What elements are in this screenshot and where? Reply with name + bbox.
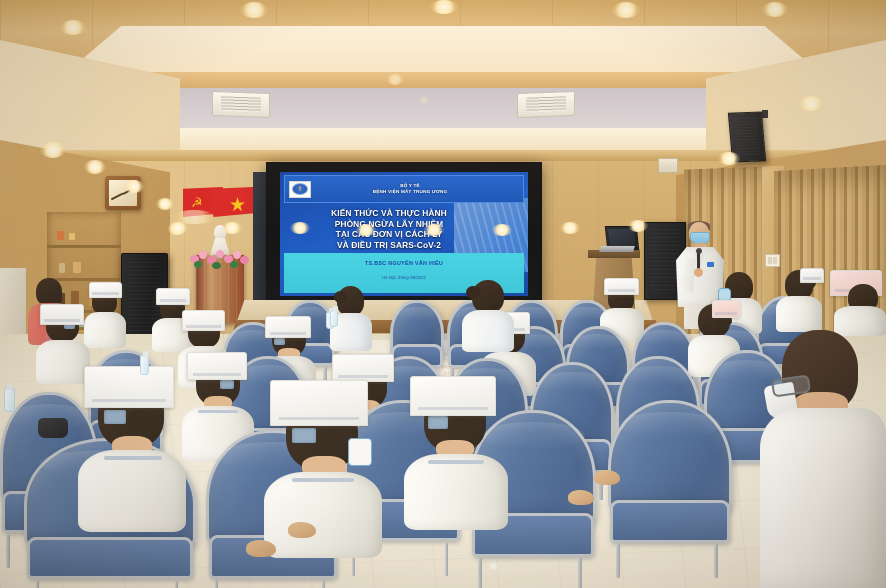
left-doorway	[0, 268, 26, 344]
attendee	[404, 376, 508, 526]
nurse-cap	[800, 268, 824, 283]
trophy-item	[69, 233, 75, 240]
cap-ribbon	[428, 416, 448, 429]
sandal	[568, 490, 594, 505]
nurse-cap	[84, 366, 174, 408]
ceiling-downlight	[430, 0, 458, 14]
presenter-id-badge	[707, 262, 714, 267]
nurse-cap	[156, 288, 190, 305]
ceiling-downlight	[492, 224, 512, 236]
hand-sanitizer-bottle[interactable]	[4, 388, 15, 412]
chair[interactable]	[608, 400, 726, 552]
nurse-cap	[40, 304, 84, 325]
trophy-item	[57, 231, 64, 240]
nurse-cap	[270, 380, 368, 426]
ceiling-downlight	[628, 220, 648, 232]
slide-title-line1: KIẾN THỨC VÀ THỰC HÀNH	[294, 208, 484, 219]
attendee	[78, 366, 186, 526]
cap-ribbon	[274, 338, 285, 345]
slide-header: ⚕ BỘ Y TẾ BỆNH VIỆN MẮT TRUNG ƯƠNG	[284, 175, 524, 203]
hand-sanitizer-bottle[interactable]	[330, 310, 338, 327]
smoke-detector-icon	[420, 97, 428, 103]
attendee	[84, 282, 126, 344]
speaker-mount-bracket	[762, 110, 768, 118]
attendee	[830, 270, 886, 334]
ceiling-downlight	[356, 224, 376, 236]
ceiling-downlight	[290, 222, 310, 234]
conference-room-photo: ☭ ★ ⚕ BỘ Y TẾ BỆNH VIỆN MẮ	[0, 0, 886, 588]
ceiling-downlight	[612, 2, 640, 18]
foreground-attendee	[760, 330, 886, 588]
ceiling-downlight	[156, 198, 174, 210]
sandal	[246, 540, 276, 557]
slide-title-line2: PHÒNG NGỪA LÂY NHIỄM	[294, 219, 484, 230]
slide-author: TS.BSC NGUYỄN VĂN HIẾU	[284, 261, 524, 267]
nurse-cap	[265, 316, 311, 338]
ceiling-downlight	[718, 152, 740, 165]
ceiling-downlight	[60, 20, 86, 35]
hand-sanitizer-bottle[interactable]	[140, 355, 149, 375]
sandal	[594, 470, 620, 485]
nurse-cap	[182, 310, 225, 331]
slide-org-line2: BỆNH VIỆN MẮT TRUNG ƯƠNG	[311, 189, 509, 195]
ceiling-downlight	[798, 96, 824, 111]
ministry-of-health-logo: ⚕	[289, 181, 311, 198]
nurse-cap	[89, 282, 122, 298]
trophy-item	[73, 262, 81, 273]
ceiling-downlight	[424, 224, 444, 236]
asclepius-rod-icon: ⚕	[298, 186, 302, 193]
trophy-item	[59, 263, 65, 273]
ceiling-downlight	[222, 222, 242, 234]
foreground-attendee-coat	[760, 408, 886, 588]
ceiling-downlight	[124, 180, 144, 193]
ceiling-downlight	[762, 2, 788, 17]
nurse-cap	[604, 278, 639, 295]
presentation-slide: ⚕ BỘ Y TẾ BỆNH VIỆN MẮT TRUNG ƯƠNG KIẾN …	[280, 172, 528, 296]
ceiling-downlight	[168, 222, 188, 234]
ceiling-downlight	[386, 74, 404, 85]
ceiling-downlight	[84, 160, 106, 174]
attendee	[462, 280, 514, 350]
nurse-cap	[332, 354, 394, 382]
slide-title-line4: VÀ ĐIỀU TRỊ SARS-CoV-2	[294, 240, 484, 251]
ceiling-downlight	[560, 222, 580, 234]
handbag[interactable]	[38, 418, 68, 438]
ceiling-downlight	[40, 142, 66, 158]
slide-title: KIẾN THỨC VÀ THỰC HÀNH PHÒNG NGỪA LÂY NH…	[294, 208, 484, 250]
cap-ribbon	[292, 428, 316, 443]
nurse-cap	[712, 300, 740, 318]
cap-ribbon	[220, 380, 234, 389]
hammer-sickle-icon: ☭	[191, 196, 203, 209]
ac-cassette-unit-right	[517, 91, 575, 118]
cap-ribbon	[104, 410, 126, 424]
ceiling-cove-soffit	[60, 26, 826, 78]
attendee	[776, 268, 822, 330]
laptop-keyboard	[599, 246, 635, 252]
ceiling-downlight	[240, 2, 268, 18]
wall-vent	[658, 158, 678, 173]
sandal	[288, 522, 316, 538]
nurse-cap	[410, 376, 496, 416]
nurse-cap	[187, 352, 247, 380]
wall-light-switch[interactable]	[765, 254, 780, 267]
slide-title-line3: TẠI CÁC ĐƠN VỊ CÁCH LY	[294, 229, 484, 240]
pink-flower-arrangement	[188, 248, 252, 270]
presenter-hand	[694, 268, 703, 277]
attendee	[264, 380, 382, 552]
ac-cassette-unit-left	[212, 91, 270, 118]
